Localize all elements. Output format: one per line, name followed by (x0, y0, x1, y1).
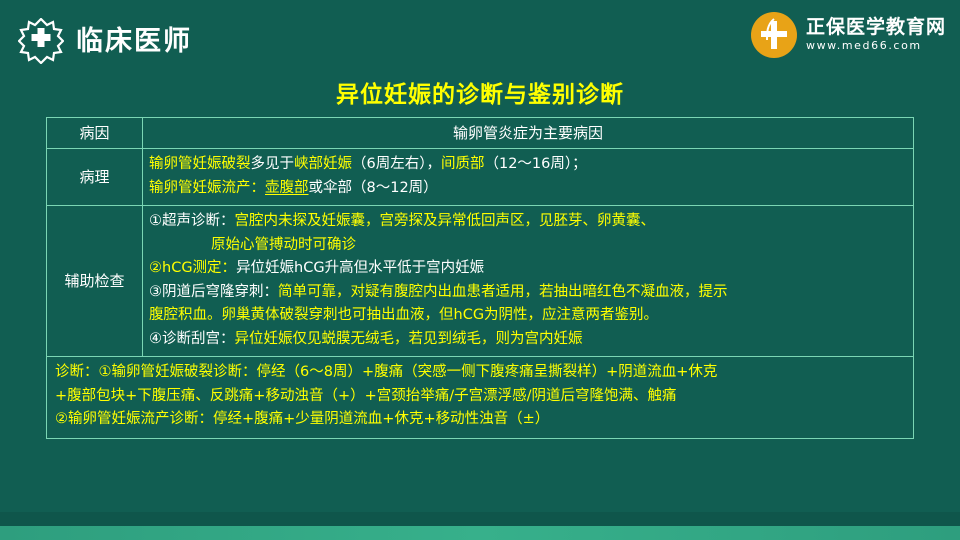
exam-item1-line2: 原始心管搏动时可确诊 (149, 234, 907, 257)
exam-item1-text2: 原始心管搏动时可确诊 (211, 237, 356, 253)
exam-item3-lead: ③阴道后穹隆穿刺： (149, 284, 278, 300)
pathology-seg-common: 多见于 (251, 156, 295, 172)
exam-item2-lead: ②hCG测定： (149, 260, 236, 276)
exam-item3-text2: 腹腔积血。卵巢黄体破裂穿刺也可抽出血液，但hCG为阴性，应注意两者鉴别。 (149, 307, 658, 323)
diagnosis-line-3: ②输卵管妊娠流产诊断：停经+腹痛+少量阴道流血+休克+移动性浊音（±） (55, 408, 907, 431)
exam-item2-text: 异位妊娠hCG升高但水平低于宫内妊娠 (236, 260, 484, 276)
footer-bar-dark (0, 512, 960, 526)
brand-left-name: 临床医师 (76, 28, 192, 55)
cause-label: 病因 (47, 118, 143, 149)
pathology-seg-fimbrial: 或伞部（8～12周） (309, 180, 438, 196)
content-table: 病因 输卵管炎症为主要病因 病理 输卵管妊娠破裂多见于峡部妊娠（6周左右），间质… (46, 117, 914, 439)
exam-item3-line1: ③阴道后穹隆穿刺：简单可靠，对疑有腹腔内出血患者适用，若抽出暗红色不凝血液，提示 (149, 281, 907, 304)
pathology-seg-interstitial: 间质部 (441, 156, 485, 172)
med66-cross-circle-icon (751, 12, 797, 58)
table-row-diagnosis: 诊断：①输卵管妊娠破裂诊断：停经（6～8周）+腹痛（突感一侧下腹疼痛呈撕裂样）+… (47, 357, 914, 438)
exam-label: 辅助检查 (47, 206, 143, 357)
exam-value: ①超声诊断：宫腔内未探及妊娠囊，宫旁探及异常低回声区，见胚芽、卵黄囊、 原始心管… (143, 206, 914, 357)
exam-item4-line: ④诊断刮宫：异位妊娠仅见蜕膜无绒毛，若见到绒毛，则为宫内妊娠 (149, 328, 907, 351)
exam-item4-lead: ④诊断刮宫： (149, 331, 235, 347)
table-row-cause: 病因 输卵管炎症为主要病因 (47, 118, 914, 149)
pathology-seg-rupture: 输卵管妊娠破裂 (149, 156, 251, 172)
pathology-seg-weeks6: （6周左右）， (352, 156, 441, 172)
pathology-seg-weeks12: （12～16周）； (484, 156, 586, 172)
footer-bar-accent (0, 526, 960, 540)
brand-right-url: www.med66.com (806, 40, 946, 52)
table-row-exam: 辅助检查 ①超声诊断：宫腔内未探及妊娠囊，宫旁探及异常低回声区，见胚芽、卵黄囊、… (47, 206, 914, 357)
exam-item4-text: 异位妊娠仅见蜕膜无绒毛，若见到绒毛，则为宫内妊娠 (235, 331, 583, 347)
brand-right-name: 正保医学教育网 (806, 18, 946, 38)
pathology-line-2: 输卵管妊娠流产：壶腹部或伞部（8～12周） (149, 177, 907, 200)
medical-cross-badge-icon (18, 18, 64, 64)
exam-item1-lead: ①超声诊断： (149, 213, 235, 229)
pathology-seg-abortion: 输卵管妊娠流产： (149, 180, 265, 196)
slide-canvas: 临床医师 正保医学教育网 www.med66.com 异位妊娠的诊断与鉴别诊断 … (0, 0, 960, 540)
diagnosis-value: 诊断：①输卵管妊娠破裂诊断：停经（6～8周）+腹痛（突感一侧下腹疼痛呈撕裂样）+… (47, 357, 914, 438)
brand-right-text: 正保医学教育网 www.med66.com (806, 18, 946, 51)
pathology-line-1: 输卵管妊娠破裂多见于峡部妊娠（6周左右），间质部（12～16周）； (149, 153, 907, 176)
table-row-pathology: 病理 输卵管妊娠破裂多见于峡部妊娠（6周左右），间质部（12～16周）； 输卵管… (47, 149, 914, 206)
exam-item2-line: ②hCG测定：异位妊娠hCG升高但水平低于宫内妊娠 (149, 257, 907, 280)
brand-left: 临床医师 (18, 18, 192, 64)
exam-item3-line2: 腹腔积血。卵巢黄体破裂穿刺也可抽出血液，但hCG为阴性，应注意两者鉴别。 (149, 304, 907, 327)
page-title: 异位妊娠的诊断与鉴别诊断 (0, 75, 960, 109)
exam-item3-text: 简单可靠，对疑有腹腔内出血患者适用，若抽出暗红色不凝血液，提示 (278, 284, 728, 300)
cause-value: 输卵管炎症为主要病因 (143, 118, 914, 149)
diagnosis-line-1: 诊断：①输卵管妊娠破裂诊断：停经（6～8周）+腹痛（突感一侧下腹疼痛呈撕裂样）+… (55, 361, 907, 384)
exam-item1-line1: ①超声诊断：宫腔内未探及妊娠囊，宫旁探及异常低回声区，见胚芽、卵黄囊、 (149, 210, 907, 233)
pathology-label: 病理 (47, 149, 143, 206)
brand-right: 正保医学教育网 www.med66.com (751, 12, 946, 58)
pathology-seg-isthmic: 峡部妊娠 (294, 156, 352, 172)
exam-item1-text: 宫腔内未探及妊娠囊，宫旁探及异常低回声区，见胚芽、卵黄囊、 (235, 213, 656, 229)
pathology-seg-ampulla: 壶腹部 (265, 180, 309, 196)
diagnosis-line-2: +腹部包块+下腹压痛、反跳痛+移动浊音（+）+宫颈抬举痛/子宫漂浮感/阴道后穹隆… (55, 385, 907, 408)
pathology-value: 输卵管妊娠破裂多见于峡部妊娠（6周左右），间质部（12～16周）； 输卵管妊娠流… (143, 149, 914, 206)
